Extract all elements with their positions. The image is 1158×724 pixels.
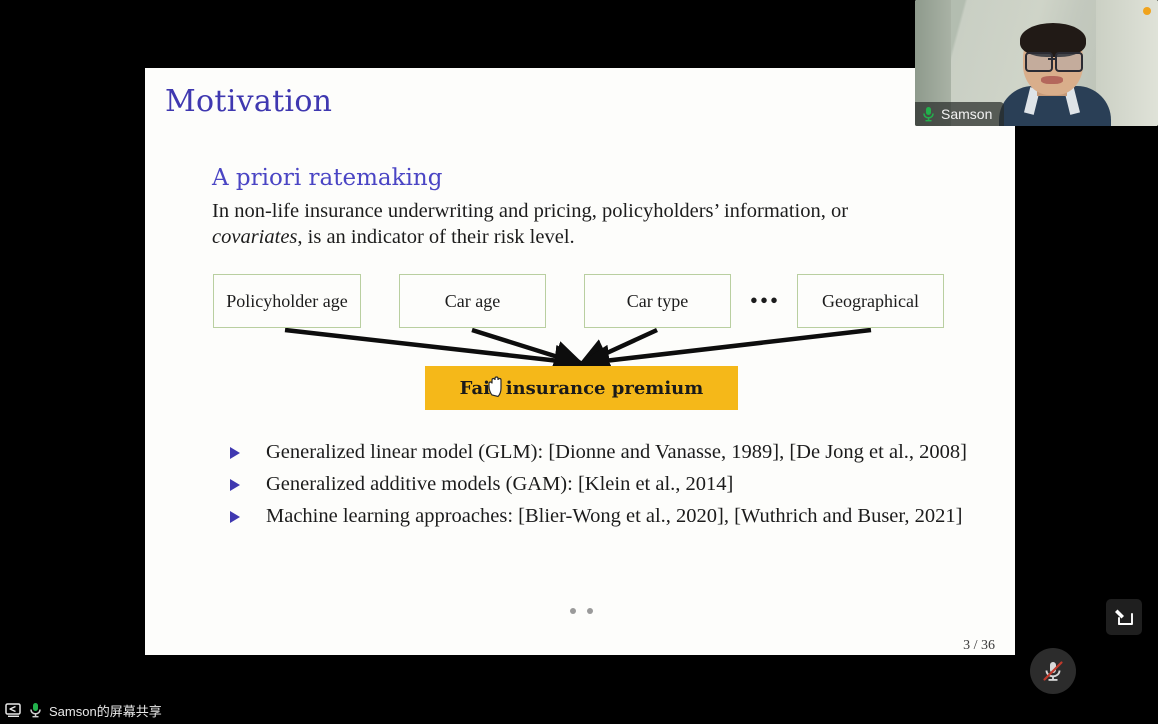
microphone-icon [922,106,935,122]
list-item-label: Generalized linear model (GLM): [Dionne … [266,441,967,463]
triangle-bullet-icon [230,511,240,523]
nav-dot[interactable] [587,608,593,614]
page-title: Motivation [165,84,332,119]
hand-cursor [486,374,508,398]
microphone-icon [29,702,42,719]
glasses-left-lens [1025,52,1053,72]
body-text-suffix: , is an indicator of their risk level. [297,226,574,248]
section-heading: A priori ratemaking [212,165,442,191]
participant-video-panel[interactable]: Samson [915,0,1158,126]
list-item-label: Machine learning approaches: [Blier-Wong… [266,505,963,527]
covariate-box-geographical[interactable]: Geographical [797,274,944,328]
triangle-bullet-icon [230,479,240,491]
participant-mouth [1041,76,1063,84]
bullet-list: Generalized linear model (GLM): [Dionne … [230,438,970,534]
screenshare-stage: Motivation A priori ratemaking In non-li… [0,0,1158,724]
body-text-prefix: In non-life insurance underwriting and p… [212,200,848,222]
body-paragraph: In non-life insurance underwriting and p… [212,198,932,250]
glasses-bridge [1048,58,1056,60]
annotate-button[interactable] [1106,599,1142,635]
covariate-box-label: Car type [627,291,688,312]
covariate-box-label: Geographical [822,291,919,312]
screen-share-icon [5,703,22,718]
triangle-bullet-icon [230,447,240,459]
covariate-box-policyholder-age[interactable]: Policyholder age [213,274,361,328]
presentation-slide[interactable]: Motivation A priori ratemaking In non-li… [145,68,1015,655]
annotate-icon [1113,606,1135,628]
list-item: Machine learning approaches: [Blier-Wong… [230,502,970,530]
microphone-muted-icon [1040,658,1066,684]
ratemaking-diagram: Policyholder age Car age Car type ••• Ge… [145,268,1015,413]
list-item: Generalized additive models (GAM): [Klei… [230,470,970,498]
taskbar[interactable]: Samson的屏幕共享 [0,696,1158,724]
covariate-box-label: Car age [445,291,500,312]
list-item-label: Generalized additive models (GAM): [Klei… [266,473,733,495]
covariate-box-car-age[interactable]: Car age [399,274,546,328]
taskbar-label: Samson的屏幕共享 [49,701,162,720]
nav-dot[interactable] [570,608,576,614]
list-item: Generalized linear model (GLM): [Dionne … [230,438,970,466]
body-text-emphasis: covariates [212,226,297,248]
slide-page-number: 3 / 36 [963,638,995,654]
participant-name-badge: Samson [915,102,1004,126]
recording-indicator-dot [1143,7,1151,15]
participant-name-label: Samson [941,106,992,122]
covariate-box-car-type[interactable]: Car type [584,274,731,328]
mute-microphone-button[interactable] [1030,648,1076,694]
slide-nav-dots[interactable] [570,608,593,614]
fair-insurance-premium-box[interactable]: Fair insurance premium [425,366,738,410]
covariate-box-label: Policyholder age [226,291,347,312]
glasses-right-lens [1055,52,1083,72]
ellipsis-icon: ••• [743,284,787,318]
